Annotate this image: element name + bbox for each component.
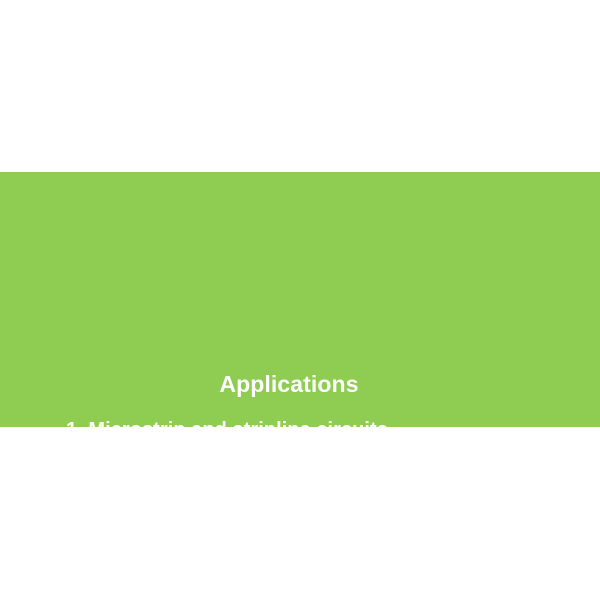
page-title: Applications — [0, 370, 578, 398]
slide-canvas: Applications 1. Microstrip and stripline… — [0, 0, 600, 600]
list-item-label: Point to point digital radio antenna — [88, 537, 420, 559]
list-item-number: 5. — [66, 537, 83, 559]
list-item-label: Radar systems — [88, 478, 231, 500]
list-item: 5. Point to point digital radio antenna — [66, 534, 460, 563]
list-item: 2. Commercial airline broadband antenna — [66, 445, 460, 474]
list-item: 3. Radar systems — [66, 475, 460, 504]
list-item-label: Commercial airline broadband antenna — [88, 448, 460, 470]
list-item: 1. Microstrip and stripline circuits — [66, 416, 460, 445]
list-item-number: 4. — [66, 507, 83, 529]
list-item-label: Millimeter wave applications — [88, 507, 360, 529]
list-item-number: 3. — [66, 478, 83, 500]
list-item-number: 1. — [66, 419, 83, 441]
list-item: 4. Millimeter wave applications — [66, 504, 460, 533]
applications-list: 1. Microstrip and stripline circuits 2. … — [66, 416, 460, 563]
list-item-label: Microstrip and stripline circuits — [88, 419, 388, 441]
applications-panel: Applications 1. Microstrip and stripline… — [0, 172, 600, 427]
list-item-number: 2. — [66, 448, 83, 470]
